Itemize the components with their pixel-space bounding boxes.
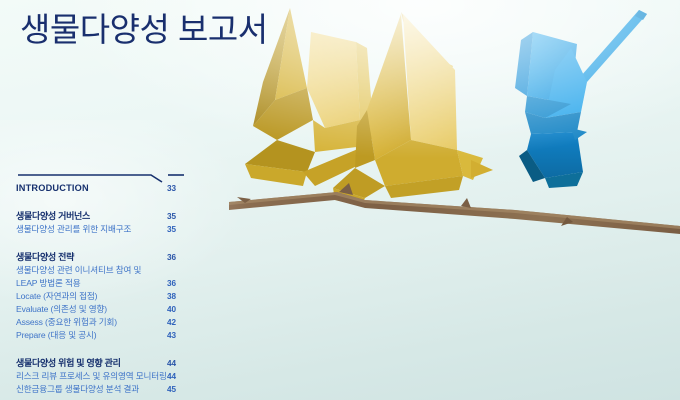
- toc-row-risk-heading[interactable]: 생물다양성 위험 및 영향 관리 44: [16, 357, 212, 370]
- toc-page-number: 45: [167, 383, 176, 396]
- toc-label: Assess (중요한 위험과 기회): [16, 316, 117, 329]
- toc-row-strategy-item-5[interactable]: Prepare (대응 및 공시) 43: [16, 329, 212, 342]
- toc-page-number: 33: [167, 182, 176, 195]
- toc-row-strategy-item-1[interactable]: LEAP 방법론 적용 36: [16, 277, 212, 290]
- toc-row-introduction[interactable]: INTRODUCTION 33: [16, 182, 212, 195]
- toc-gap: [16, 342, 212, 355]
- toc-label: INTRODUCTION: [16, 182, 89, 195]
- toc-label: Evaluate (의존성 및 영향): [16, 303, 107, 316]
- page-title: 생물다양성 보고서: [20, 8, 268, 52]
- toc-page-number: 40: [167, 303, 176, 316]
- toc-row-governance-heading[interactable]: 생물다양성 거버넌스 35: [16, 210, 212, 223]
- toc-row-risk-item-0[interactable]: 리스크 리뷰 프로세스 및 유의영역 모니터링 44: [16, 370, 212, 383]
- toc-label: 생물다양성 전략: [16, 251, 74, 264]
- toc-gap: [16, 195, 212, 208]
- toc-section-governance: 생물다양성 거버넌스 35 생물다양성 관리를 위한 지배구조 35: [16, 210, 212, 236]
- toc-section-introduction: INTRODUCTION 33: [16, 182, 212, 195]
- toc-page-number: 36: [167, 277, 176, 290]
- toc-row-strategy-item-0[interactable]: 생물다양성 관련 이니셔티브 참여 및: [16, 264, 212, 277]
- toc-page-number: 43: [167, 329, 176, 342]
- toc-row-strategy-item-4[interactable]: Assess (중요한 위험과 기회) 42: [16, 316, 212, 329]
- table-of-contents: INTRODUCTION 33 생물다양성 거버넌스 35 생물다양성 관리를 …: [16, 170, 212, 396]
- toc-label: Prepare (대응 및 공시): [16, 329, 96, 342]
- origami-birds-photo: [215, 0, 680, 400]
- toc-label: 리스크 리뷰 프로세스 및 유의영역 모니터링: [16, 370, 167, 383]
- toc-row-strategy-item-3[interactable]: Evaluate (의존성 및 영향) 40: [16, 303, 212, 316]
- toc-row-risk-item-1[interactable]: 신한금융그룹 생물다양성 분석 결과 45: [16, 383, 212, 396]
- toc-page-number: 35: [167, 223, 176, 236]
- toc-section-strategy: 생물다양성 전략 36 생물다양성 관련 이니셔티브 참여 및 LEAP 방법론…: [16, 251, 212, 342]
- toc-label: 생물다양성 거버넌스: [16, 210, 90, 223]
- toc-page-number: 38: [167, 290, 176, 303]
- toc-page-number: 35: [167, 210, 176, 223]
- toc-label: 생물다양성 위험 및 영향 관리: [16, 357, 121, 370]
- toc-section-risk: 생물다양성 위험 및 영향 관리 44 리스크 리뷰 프로세스 및 유의영역 모…: [16, 357, 212, 396]
- origami-photo-svg: [215, 0, 680, 400]
- origami-bird-right-blue: [515, 10, 647, 188]
- toc-label: 생물다양성 관리를 위한 지배구조: [16, 223, 131, 236]
- toc-label: LEAP 방법론 적용: [16, 277, 80, 290]
- toc-row-strategy-heading[interactable]: 생물다양성 전략 36: [16, 251, 212, 264]
- toc-page-number: 36: [167, 251, 176, 264]
- toc-row-strategy-item-2[interactable]: Locate (자연과의 접점) 38: [16, 290, 212, 303]
- toc-page-number: 44: [167, 370, 176, 383]
- toc-label: 신한금융그룹 생물다양성 분석 결과: [16, 383, 139, 396]
- toc-label: Locate (자연과의 접점): [16, 290, 97, 303]
- toc-page-number: 44: [167, 357, 176, 370]
- tree-branch: [229, 183, 680, 234]
- toc-gap: [16, 236, 212, 249]
- toc-label: 생물다양성 관련 이니셔티브 참여 및: [16, 264, 141, 277]
- cover-page: 생물다양성 보고서 INTRODUCTION 33 생물다양성 거버넌스 35 …: [0, 0, 680, 400]
- toc-page-number: 42: [167, 316, 176, 329]
- toc-row-governance-item-0[interactable]: 생물다양성 관리를 위한 지배구조 35: [16, 223, 212, 236]
- toc-divider-line: [16, 170, 196, 180]
